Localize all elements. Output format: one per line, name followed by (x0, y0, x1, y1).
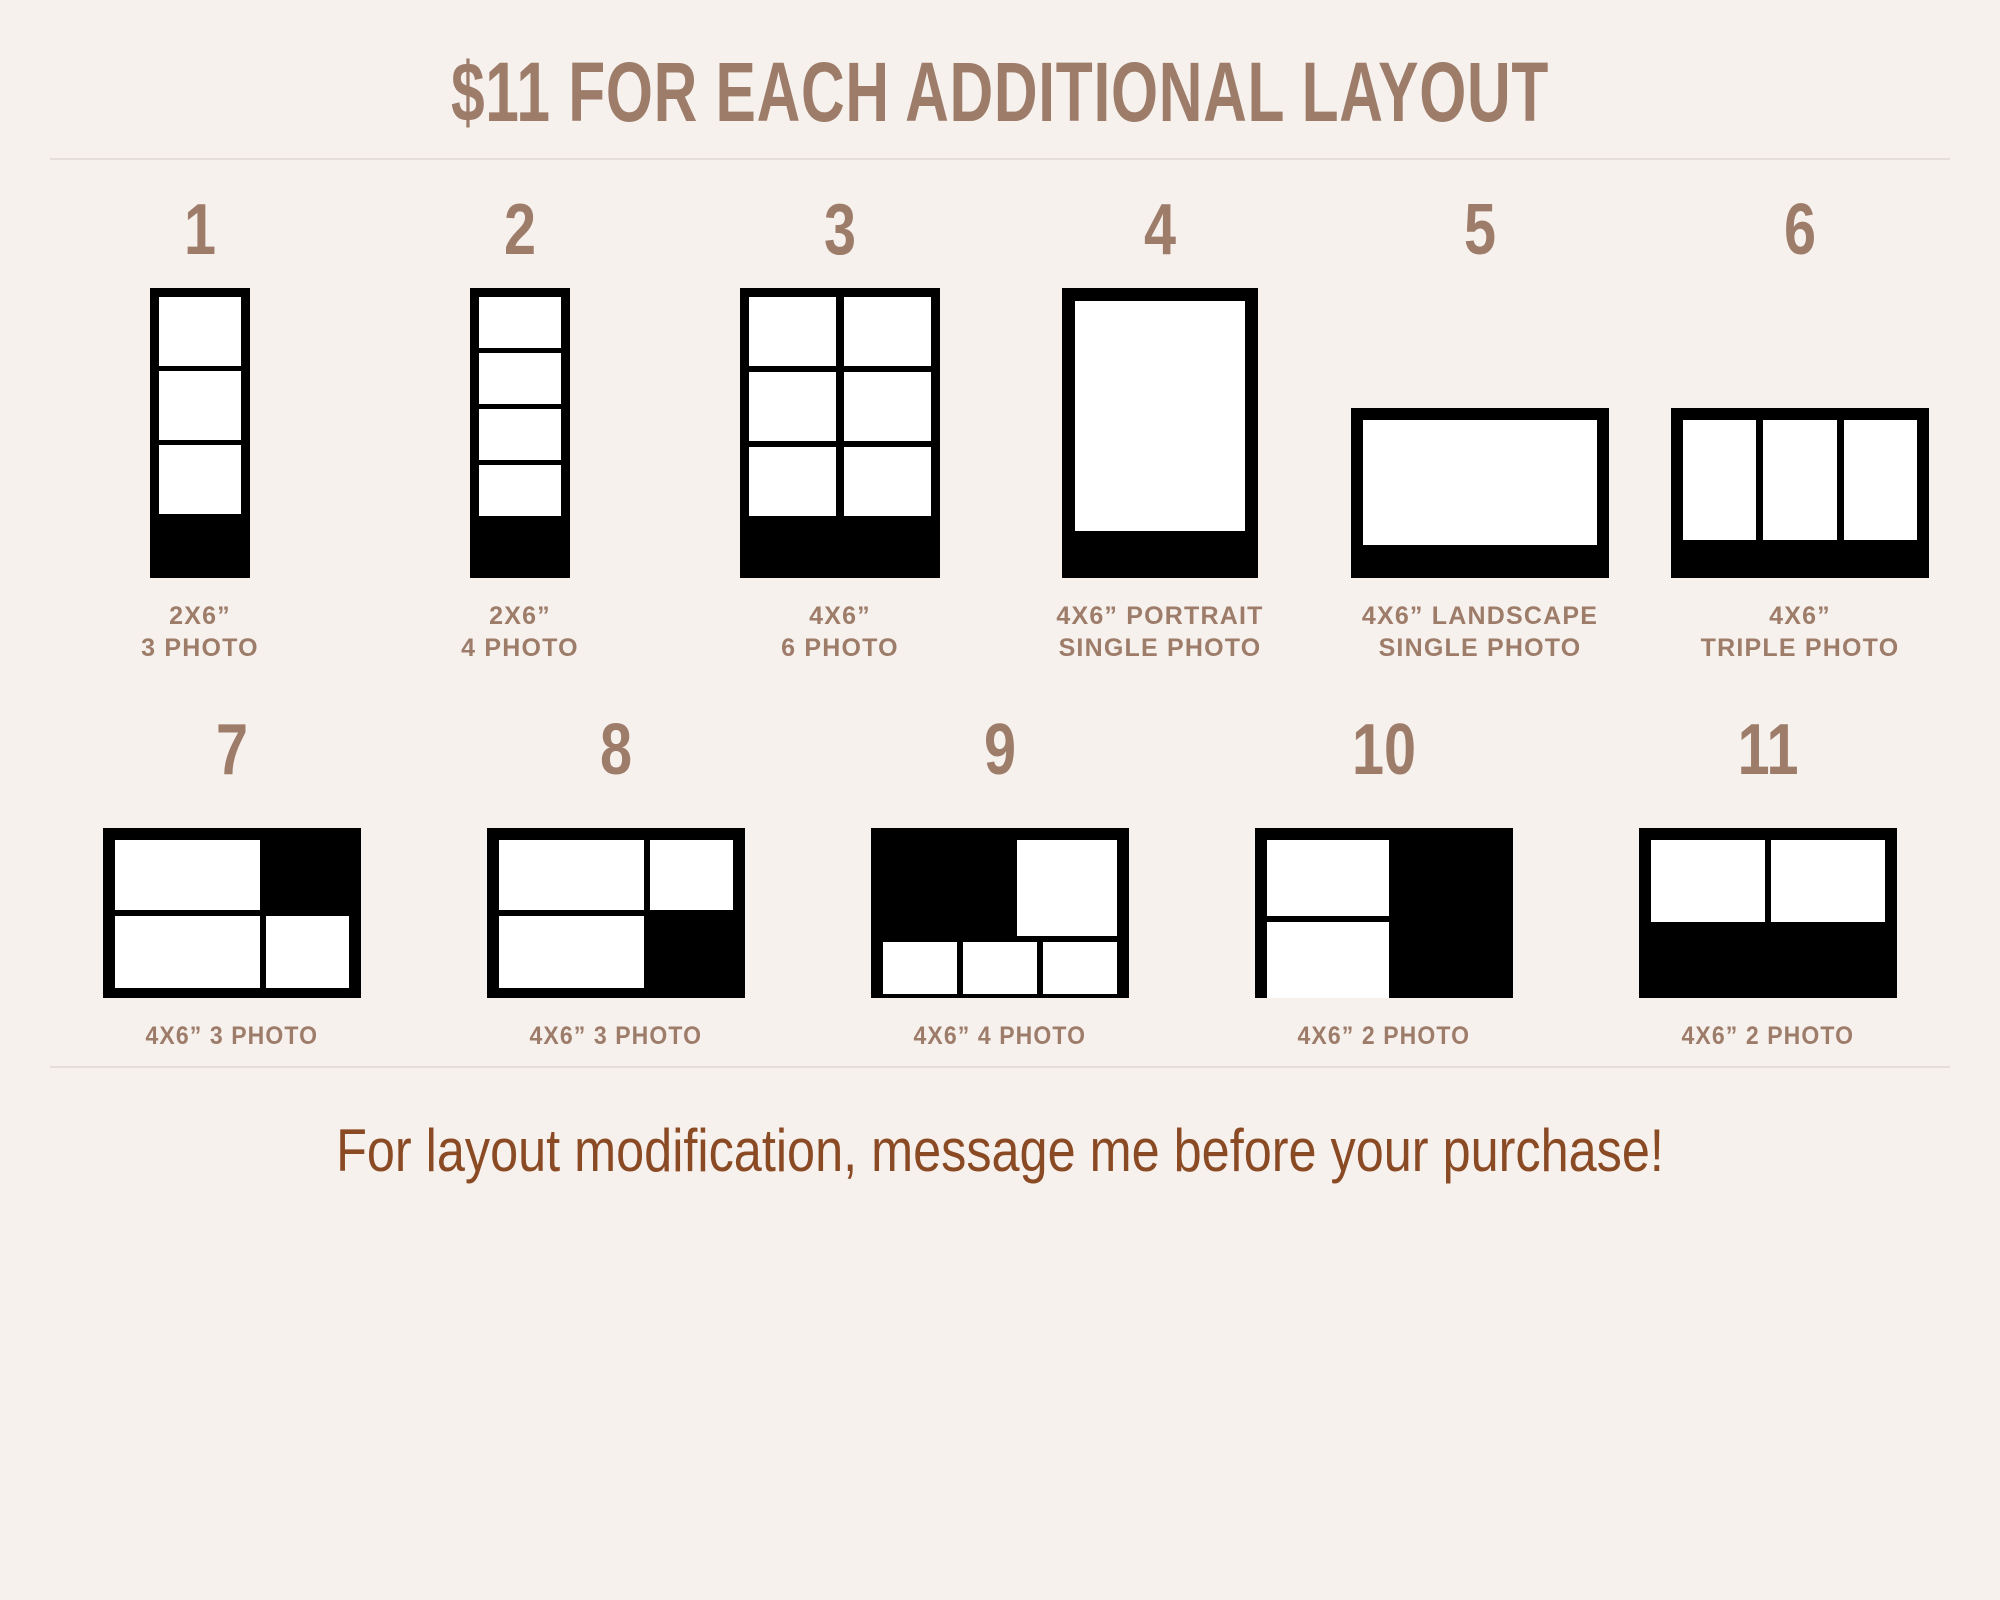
layout-thumbnail-10 (1255, 798, 1513, 998)
photo-slot (479, 353, 561, 404)
collage-frame (1639, 828, 1897, 998)
photo-slot (1267, 840, 1389, 916)
layout-option-5[interactable]: 5 4X6” LANDSCAPE SINGLE PHOTO (1345, 194, 1615, 664)
layout-thumbnail-1 (150, 278, 250, 578)
photo-slot (1267, 922, 1389, 998)
layout-option-6[interactable]: 6 4X6” TRIPLE PHOTO (1665, 194, 1935, 664)
landscape-single-frame (1351, 408, 1609, 578)
layout-caption: 4X6” LANDSCAPE SINGLE PHOTO (1362, 600, 1598, 664)
photo-slot (266, 916, 349, 988)
layout-option-1[interactable]: 1 2X6” 3 PHOTO (65, 194, 335, 664)
photo-slot (1017, 840, 1117, 936)
layout-number: 1 (184, 194, 216, 266)
photo-strip-frame (150, 288, 250, 578)
photo-slot (1363, 420, 1597, 545)
layout-number: 2 (504, 194, 536, 266)
collage-frame (487, 828, 745, 998)
layout-thumbnail-6 (1671, 278, 1929, 578)
layout-caption: 4X6” 4 PHOTO (914, 1020, 1087, 1052)
empty-area (1395, 840, 1501, 998)
layout-number: 4 (1144, 194, 1176, 266)
layout-thumbnail-7 (103, 798, 361, 998)
photo-slot (749, 447, 836, 516)
layout-option-7[interactable]: 7 4X6” 3 PHOTO (97, 714, 367, 1052)
layout-caption: 4X6” 6 PHOTO (781, 600, 899, 664)
layout-thumbnail-4 (1062, 278, 1258, 578)
layout-thumbnail-5 (1351, 278, 1609, 578)
layout-option-8[interactable]: 8 4X6” 3 PHOTO (481, 714, 751, 1052)
layout-row-1: 1 2X6” 3 PHOTO 2 2X6” 4 P (0, 194, 2000, 664)
layout-caption: 4X6” TRIPLE PHOTO (1701, 600, 1900, 664)
photo-slot (115, 916, 260, 988)
portrait-single-frame (1062, 288, 1258, 578)
photo-slot (115, 840, 260, 910)
layout-number: 6 (1784, 194, 1816, 266)
photo-slot (1763, 420, 1836, 540)
layout-caption: 4X6” 3 PHOTO (530, 1020, 703, 1052)
layout-caption: 2X6” 4 PHOTO (461, 600, 579, 664)
pricing-layout-poster: $11 FOR EACH ADDITIONAL LAYOUT 1 2X6” 3 … (0, 0, 2000, 1600)
layout-number: 11 (1738, 714, 1799, 786)
photo-slot (159, 445, 241, 514)
photo-slot (1651, 840, 1765, 922)
layout-caption: 4X6” 2 PHOTO (1682, 1020, 1855, 1052)
photo-slot (499, 916, 644, 988)
layout-thumbnail-2 (470, 278, 570, 578)
photo-slot (479, 297, 561, 348)
photo-slot (883, 942, 957, 994)
layout-number: 8 (600, 714, 632, 786)
photo-slot (1771, 840, 1885, 922)
photo-slot (844, 372, 931, 441)
layout-option-11[interactable]: 11 4X6” 2 PHOTO (1633, 714, 1903, 1052)
layout-option-2[interactable]: 2 2X6” 4 PHOTO (385, 194, 655, 664)
layout-caption: 4X6” PORTRAIT SINGLE PHOTO (1056, 600, 1263, 664)
photo-slot (1683, 420, 1756, 540)
divider-top (50, 158, 1950, 160)
layout-number: 5 (1464, 194, 1496, 266)
empty-area (1651, 922, 1885, 986)
collage-frame (871, 828, 1129, 998)
layout-row-2: 7 4X6” 3 PHOTO 8 (0, 714, 2000, 1052)
layout-caption: 2X6” 3 PHOTO (141, 600, 259, 664)
photo-slot (963, 942, 1037, 994)
page-title: $11 FOR EACH ADDITIONAL LAYOUT (280, 0, 1720, 136)
layout-number: 9 (984, 714, 1016, 786)
photo-slot (844, 447, 931, 516)
photo-slot (749, 372, 836, 441)
layout-thumbnail-9 (871, 798, 1129, 998)
divider-bottom (50, 1066, 1950, 1068)
layout-option-10[interactable]: 10 4X6” 2 PHOTO (1249, 714, 1519, 1052)
photo-slot (650, 840, 733, 910)
photo-slot (159, 371, 241, 440)
layout-number: 10 (1352, 714, 1416, 786)
layout-thumbnail-11 (1639, 798, 1897, 998)
collage-frame (1255, 828, 1513, 998)
photo-slot (499, 840, 644, 910)
photo-slot (159, 297, 241, 366)
empty-area (266, 840, 349, 910)
layout-option-9[interactable]: 9 4X6” 4 PHOTO (865, 714, 1135, 1052)
layout-option-4[interactable]: 4 4X6” PORTRAIT SINGLE PHOTO (1025, 194, 1295, 664)
layout-number: 7 (216, 714, 248, 786)
photo-slot (1844, 420, 1917, 540)
layout-option-3[interactable]: 3 (705, 194, 975, 664)
photo-strip-frame (470, 288, 570, 578)
empty-area (650, 916, 733, 988)
layout-thumbnail-3 (740, 278, 940, 578)
triple-photo-frame (1671, 408, 1929, 578)
empty-area (883, 840, 1011, 936)
layout-number: 3 (824, 194, 856, 266)
photo-slot (749, 297, 836, 366)
photo-slot (479, 465, 561, 516)
photo-slot (479, 409, 561, 460)
layout-thumbnail-8 (487, 798, 745, 998)
footer-note: For layout modification, message me befo… (160, 1116, 1840, 1185)
photo-slot (1075, 301, 1245, 531)
layout-caption: 4X6” 2 PHOTO (1298, 1020, 1471, 1052)
photo-grid-frame (740, 288, 940, 578)
layout-caption: 4X6” 3 PHOTO (146, 1020, 319, 1052)
collage-frame (103, 828, 361, 998)
photo-slot (1043, 942, 1117, 994)
photo-slot (844, 297, 931, 366)
